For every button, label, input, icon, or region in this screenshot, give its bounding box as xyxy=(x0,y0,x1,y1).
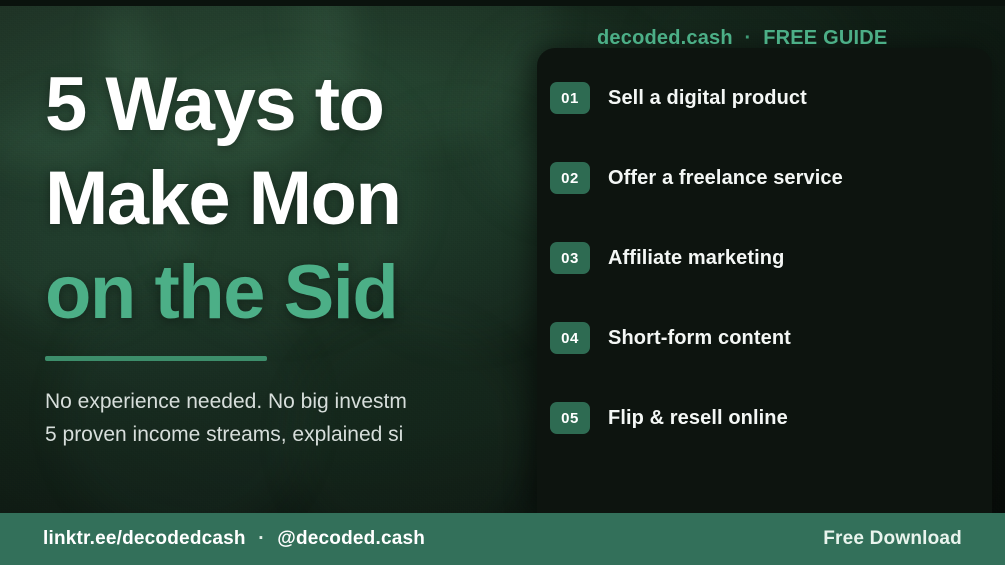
list-item[interactable]: 05 Flip & resell online xyxy=(537,398,992,438)
footer-bar: linktr.ee/decodedcash · @decoded.cash Fr… xyxy=(0,513,1005,565)
list-item-label: Sell a digital product xyxy=(608,87,807,110)
footer-handle[interactable]: @decoded.cash xyxy=(277,528,425,549)
title-underline-rule xyxy=(45,356,267,361)
list-item[interactable]: 03 Affiliate marketing xyxy=(537,238,992,278)
ways-list: 01 Sell a digital product 02 Offer a fre… xyxy=(537,78,992,478)
list-item-label: Offer a freelance service xyxy=(608,167,843,190)
list-item-label: Short-form content xyxy=(608,327,791,350)
item-number-badge: 02 xyxy=(550,162,590,194)
footer-links: linktr.ee/decodedcash · @decoded.cash xyxy=(43,528,425,550)
item-number-badge: 01 xyxy=(550,82,590,114)
footer-link[interactable]: linktr.ee/decodedcash xyxy=(43,528,246,549)
brand-name: decoded.cash xyxy=(597,27,733,49)
list-item[interactable]: 04 Short-form content xyxy=(537,318,992,358)
footer-cta[interactable]: Free Download xyxy=(823,528,962,550)
list-item[interactable]: 01 Sell a digital product xyxy=(537,78,992,118)
brand-tag: FREE GUIDE xyxy=(763,27,887,49)
top-letterbox-bar xyxy=(0,0,1005,6)
item-number-badge: 05 xyxy=(550,402,590,434)
footer-separator: · xyxy=(251,528,272,549)
brand-separator: · xyxy=(739,27,758,49)
poster-canvas: 5 Ways to Make Mon on the Sid No experie… xyxy=(0,0,1005,565)
brand-header: decoded.cash · FREE GUIDE xyxy=(597,27,887,50)
item-number-badge: 04 xyxy=(550,322,590,354)
list-item[interactable]: 02 Offer a freelance service xyxy=(537,158,992,198)
list-item-label: Flip & resell online xyxy=(608,407,788,430)
item-number-badge: 03 xyxy=(550,242,590,274)
list-item-label: Affiliate marketing xyxy=(608,247,784,270)
